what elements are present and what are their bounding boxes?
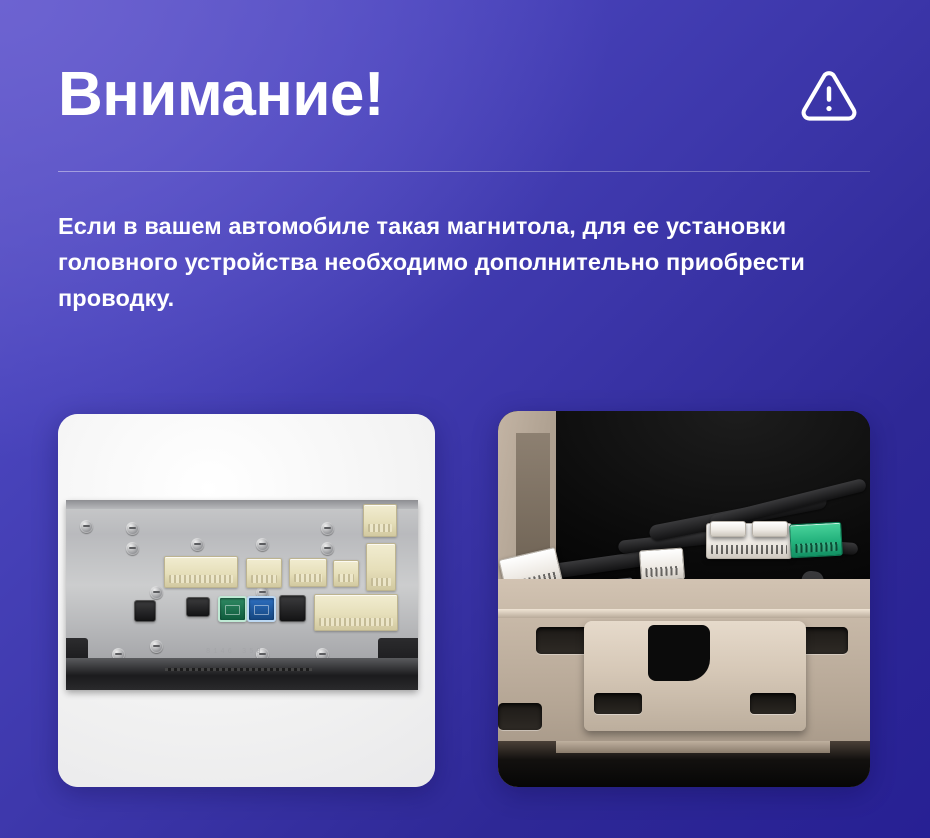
blue-square-connector — [247, 596, 276, 622]
green-square-connector — [218, 596, 247, 622]
tray-slot — [750, 693, 796, 714]
ivory-connector-large — [314, 594, 398, 631]
dashboard-lower-edge — [498, 741, 870, 787]
tray-cutout — [648, 625, 710, 681]
chassis-screw — [321, 522, 334, 535]
black-square-connector — [186, 597, 210, 617]
chassis-screw — [150, 586, 163, 599]
ivory-connector — [164, 556, 238, 588]
black-square-connector — [279, 595, 306, 622]
chassis-screw — [321, 542, 334, 555]
chassis-screw — [80, 520, 93, 533]
green-connector — [789, 522, 843, 559]
body-text: Если в вашем автомобиле такая магнитола,… — [58, 208, 878, 316]
chassis-screw — [256, 538, 269, 551]
connector-pins — [711, 545, 787, 554]
photo-backdrop: 8146 358 — [58, 414, 435, 787]
connector-pins — [645, 566, 680, 577]
connector-pins — [795, 542, 837, 553]
photo-backdrop — [498, 411, 870, 787]
warning-slide: Внимание! Если в вашем автомобиле такая … — [0, 0, 930, 838]
slide-header: Внимание! — [58, 52, 872, 138]
ivory-connector — [333, 560, 359, 587]
white-connector-latch — [752, 521, 788, 537]
chassis-screw — [150, 640, 163, 653]
ivory-connector — [363, 504, 397, 537]
black-square-connector — [134, 600, 156, 622]
chassis-marking: 8146 358 — [206, 648, 264, 656]
ivory-connector — [246, 558, 282, 588]
white-connector — [639, 548, 685, 583]
chassis-screw — [126, 522, 139, 535]
tray-slot — [594, 693, 642, 714]
shelf-vent-slot — [536, 627, 590, 654]
chassis-screw — [126, 542, 139, 555]
head-unit-chassis: 8146 358 — [66, 500, 418, 690]
header-divider — [58, 171, 870, 172]
ivory-connector — [366, 543, 396, 591]
photo-card-row: 8146 358 — [58, 411, 870, 787]
shelf-vent-slot — [498, 703, 542, 730]
car-head-unit-rear-photo: 8146 358 — [58, 414, 435, 787]
dashboard-wiring-harness-photo — [498, 411, 870, 787]
chassis-screw — [191, 538, 204, 551]
ivory-connector — [289, 558, 327, 587]
warning-triangle-icon — [798, 64, 860, 126]
chassis-bottom-edge — [66, 658, 418, 690]
shelf-lip — [498, 609, 870, 618]
page-title: Внимание! — [58, 64, 384, 126]
white-connector-latch — [710, 521, 746, 537]
mounting-tray — [584, 621, 806, 731]
